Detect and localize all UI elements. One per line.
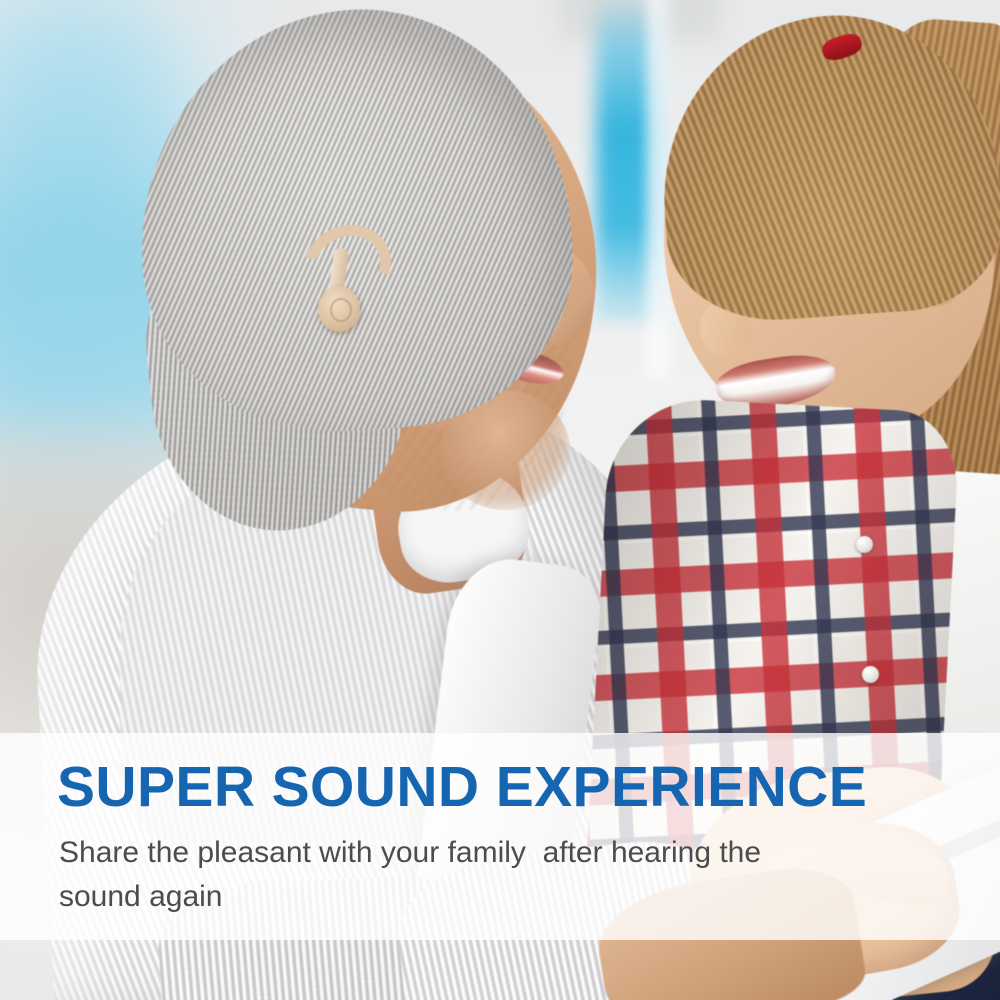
banner-headline: SUPER SOUND EXPERIENCE (57, 759, 867, 816)
text-overlay-band: SUPER SOUND EXPERIENCE Share the pleasan… (0, 733, 1000, 940)
text-overlay-content: SUPER SOUND EXPERIENCE Share the pleasan… (57, 733, 957, 940)
shirt-snap-button (862, 666, 879, 683)
product-banner: SUPER SOUND EXPERIENCE Share the pleasan… (0, 0, 1000, 1000)
hearing-aid-volume-dial (330, 298, 352, 322)
banner-subtitle: Share the pleasant with your family afte… (59, 831, 819, 919)
shirt-snap-button (856, 536, 873, 553)
